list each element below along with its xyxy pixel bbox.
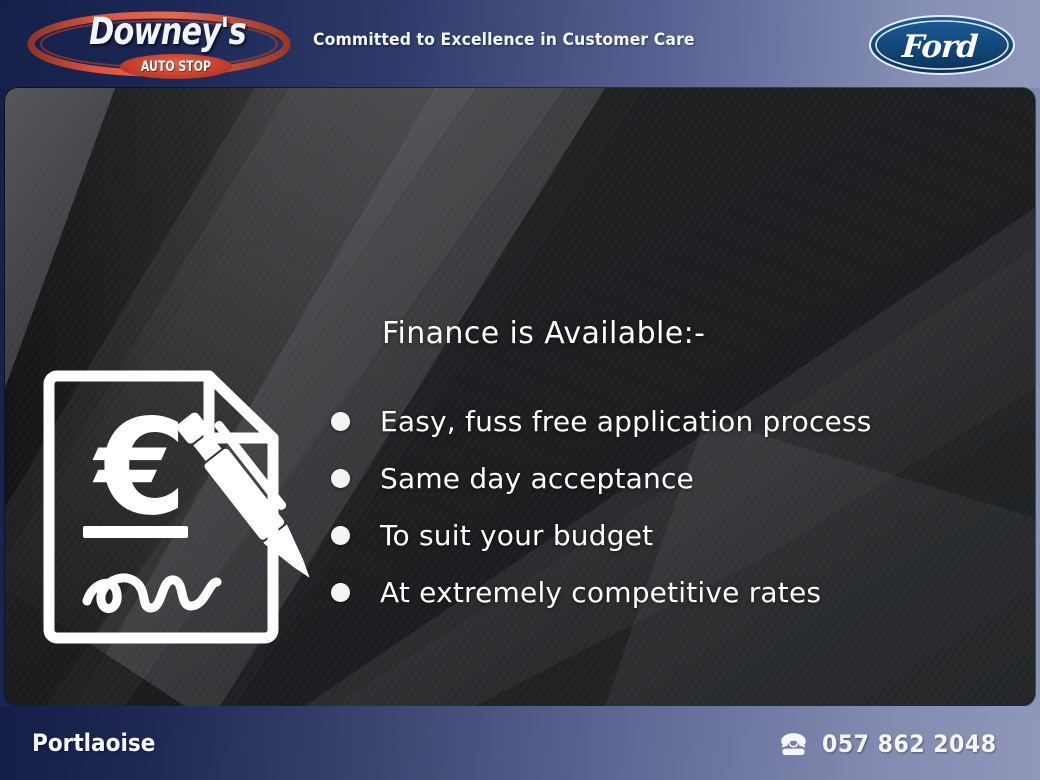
benefit-label: At extremely competitive rates	[380, 576, 821, 609]
svg-text:€: €	[92, 391, 187, 545]
benefit-label: Same day acceptance	[380, 462, 694, 495]
svg-text:Ford: Ford	[900, 29, 979, 65]
promo-card: € Finance is Available:-	[5, 88, 1035, 706]
finance-benefits-list: Easy, fuss free application process Same…	[331, 393, 872, 621]
phone-number-label: 057 862 2048	[822, 730, 997, 758]
bullet-dot-icon	[331, 412, 350, 431]
contact-phone[interactable]: 057 862 2048	[778, 730, 1012, 758]
card-headline: Finance is Available:-	[382, 316, 705, 351]
benefit-label: To suit your budget	[380, 519, 653, 552]
ford-logo-icon[interactable]: Ford	[868, 14, 1016, 76]
telephone-icon	[778, 731, 809, 757]
euro-document-signature-icon: €	[41, 368, 321, 653]
finance-promo-banner: Downey's AUTO STOP Committed to Excellen…	[0, 0, 1040, 780]
site-footer: Portlaoise 057 862 2048	[0, 706, 1040, 780]
dealer-logo[interactable]: Downey's AUTO STOP	[24, 4, 294, 84]
dealer-logo-subtext: AUTO STOP	[141, 59, 211, 75]
dealer-location: Portlaoise	[32, 729, 155, 757]
dealer-logo-wordmark: Downey's	[89, 12, 245, 52]
benefit-label: Easy, fuss free application process	[380, 405, 872, 438]
list-item: To suit your budget	[331, 507, 872, 564]
list-item: Same day acceptance	[331, 450, 872, 507]
bullet-dot-icon	[331, 526, 350, 545]
list-item: At extremely competitive rates	[331, 564, 872, 621]
bullet-dot-icon	[331, 583, 350, 602]
site-header: Downey's AUTO STOP Committed to Excellen…	[0, 0, 1040, 88]
bullet-dot-icon	[331, 469, 350, 488]
header-tagline: Committed to Excellence in Customer Care	[313, 30, 695, 49]
dealer-logo-pill: AUTO STOP	[120, 54, 232, 79]
list-item: Easy, fuss free application process	[331, 393, 872, 450]
